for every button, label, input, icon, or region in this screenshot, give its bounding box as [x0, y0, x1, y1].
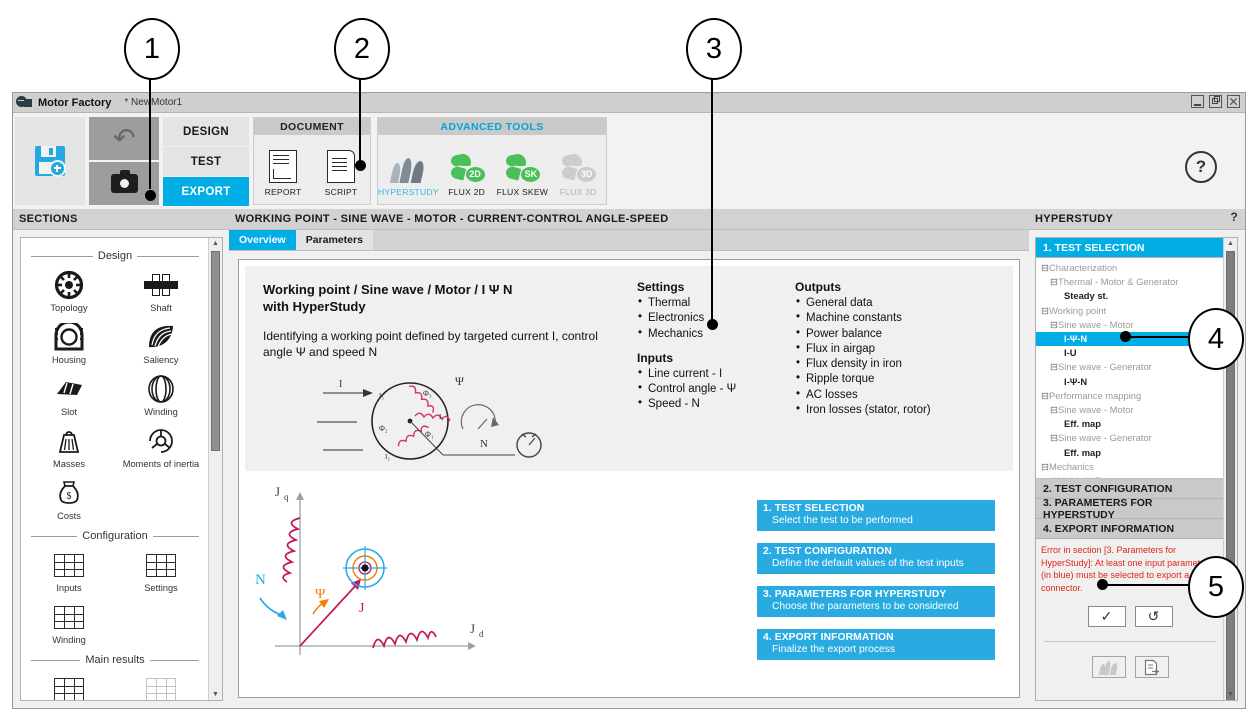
- callout-4-number: 4: [1208, 325, 1224, 354]
- step-3: 3. PARAMETERS FOR HYPERSTUDY Choose the …: [757, 586, 995, 617]
- ribbon-group-document: DOCUMENT REPORT SCRIPT: [253, 117, 371, 205]
- workspace: SECTIONS Design Topology Shaft Housing S…: [13, 209, 1245, 708]
- test-selection-tree: ⊟Characterization ⊟Thermal - Motor & Gen…: [1036, 258, 1224, 479]
- svg-text:J: J: [470, 621, 475, 636]
- inputs-list: Line current - I Control angle - Ψ Speed…: [637, 367, 777, 413]
- accordion-export-information[interactable]: 4. EXPORT INFORMATION: [1036, 519, 1224, 539]
- flux-skew-label: FLUX SKEW: [494, 187, 550, 197]
- slide-outputs-column: Outputs General data Machine constants P…: [795, 280, 985, 427]
- list-item: Line current - I: [637, 367, 777, 382]
- flux-3d-tag: 3D: [577, 167, 596, 182]
- winding-icon: [148, 374, 174, 404]
- validate-button[interactable]: ✓: [1088, 606, 1126, 627]
- section-item-saliency[interactable]: Saliency: [115, 316, 207, 368]
- tree-node[interactable]: ⊟Sine wave - Motor: [1036, 403, 1224, 417]
- svg-text:Ψ: Ψ: [455, 374, 464, 388]
- section-label-shaft: Shaft: [115, 303, 207, 313]
- footer-buttons: [1036, 656, 1224, 678]
- callout-1-anchor: [145, 190, 156, 201]
- callout-3-number: 3: [706, 35, 722, 64]
- sections-group-configuration-items: Inputs Settings Winding: [23, 544, 207, 648]
- callout-2-number: 2: [354, 35, 370, 64]
- outputs-list: General data Machine constants Power bal…: [795, 296, 985, 418]
- script-label: SCRIPT: [312, 187, 370, 197]
- callout-1-number: 1: [144, 35, 160, 64]
- callout-4-anchor: [1120, 331, 1131, 342]
- sections-group-configuration-title: Configuration: [82, 530, 147, 542]
- flux-2d-tag: 2D: [466, 167, 485, 182]
- tree-node[interactable]: ⊟Mechanics: [1036, 460, 1224, 474]
- slide-title: Working point / Sine wave / Motor / I Ψ …: [263, 282, 593, 316]
- housing-icon: [54, 323, 84, 351]
- report-label: REPORT: [254, 187, 312, 197]
- list-item: Mechanics: [637, 327, 777, 342]
- motor-schematic-diagram: I Φ₃ Φ₂ Φ₁ I₃: [315, 371, 585, 469]
- section-label-moments-of-inertia: Moments of inertia: [115, 459, 207, 469]
- step-4-desc: Finalize the export process: [763, 644, 989, 655]
- section-item-settings[interactable]: Settings: [115, 544, 207, 596]
- inputs-heading: Inputs: [637, 351, 777, 365]
- table-icon: [54, 554, 84, 577]
- tree-node[interactable]: Eff. map: [1036, 417, 1224, 431]
- tree-node[interactable]: ⊟Sine wave - Generator: [1036, 431, 1224, 445]
- report-button[interactable]: REPORT: [254, 145, 312, 197]
- callout-4-leader: [1127, 336, 1189, 338]
- callout-1-leader: [149, 76, 151, 189]
- callout-4: 4: [1188, 308, 1244, 370]
- callout-1: 1: [124, 18, 180, 80]
- application-window: Motor Factory * NewMotor1 ↷ DESIGN TEST …: [12, 92, 1246, 709]
- table-icon: [146, 678, 176, 701]
- undo-icon: ↷: [113, 125, 136, 152]
- section-item-winding-config[interactable]: Winding: [23, 596, 115, 648]
- step-4: 4. EXPORT INFORMATION Finalize the expor…: [757, 629, 995, 660]
- hyperstudy-icon: [391, 156, 425, 183]
- sections-scroll-area: Design Topology Shaft Housing Saliency S…: [21, 238, 209, 700]
- callout-3: 3: [686, 18, 742, 80]
- costs-icon: $: [55, 479, 83, 507]
- callout-2: 2: [334, 18, 390, 80]
- step-1: 1. TEST SELECTION Select the test to be …: [757, 500, 995, 531]
- ribbon-toolbar: ↷ DESIGN TEST EXPORT DOCUMENT REPORT SCR…: [13, 113, 1245, 210]
- list-item: Control angle - Ψ: [637, 382, 777, 397]
- list-item: AC losses: [795, 388, 985, 403]
- step-3-title: 3. PARAMETERS FOR HYPERSTUDY: [763, 589, 989, 600]
- step-3-desc: Choose the parameters to be considered: [763, 601, 989, 612]
- callout-5-anchor: [1097, 579, 1108, 590]
- flux-3d-label: FLUX 3D: [550, 187, 606, 197]
- section-item-shaft[interactable]: Shaft: [115, 264, 207, 316]
- tree-node[interactable]: ⊟Sine wave - Generator: [1036, 360, 1224, 374]
- callout-5-number: 5: [1208, 573, 1224, 602]
- sections-group-main-results-items: Working point Power electronics: [23, 668, 207, 701]
- tree-node[interactable]: I-Ψ-N: [1036, 375, 1224, 389]
- callout-5: 5: [1188, 556, 1244, 618]
- section-item-topology[interactable]: Topology: [23, 264, 115, 316]
- flux-skew-icon: SK: [504, 154, 540, 183]
- hyperstudy-sections: 1. TEST SELECTION ⊟Characterization ⊟The…: [1036, 238, 1224, 700]
- section-label-winding: Winding: [115, 407, 207, 417]
- sections-group-design-header: Design: [31, 250, 199, 262]
- hyperstudy-icon: [1099, 660, 1119, 675]
- table-icon: [146, 554, 176, 577]
- step-1-desc: Select the test to be performed: [763, 515, 989, 526]
- step-4-title: 4. EXPORT INFORMATION: [763, 632, 989, 643]
- flux-2d-button[interactable]: 2D FLUX 2D: [439, 145, 495, 197]
- step-2-desc: Define the default values of the test in…: [763, 558, 989, 569]
- settings-heading: Settings: [637, 280, 777, 294]
- callout-2-anchor: [355, 160, 366, 171]
- section-item-moments-of-inertia[interactable]: Moments of inertia: [115, 420, 207, 472]
- title-bar: Motor Factory * NewMotor1: [13, 93, 1245, 113]
- svg-text:Φ₂: Φ₂: [379, 424, 388, 433]
- hyperstudy-button[interactable]: HYPERSTUDY: [378, 145, 439, 197]
- flux-skew-tag: SK: [521, 167, 540, 182]
- svg-text:I₃: I₃: [379, 392, 384, 400]
- svg-text:Ψ: Ψ: [315, 587, 326, 602]
- section-label-saliency: Saliency: [115, 355, 207, 365]
- scroll-up-icon[interactable]: ▲: [1224, 238, 1237, 249]
- slide-settings-column: Settings Thermal Electronics Mechanics I…: [637, 280, 777, 422]
- sections-scrollbar[interactable]: ▲ ▼: [208, 238, 222, 700]
- section-label-housing: Housing: [23, 355, 115, 365]
- app-title: Motor Factory: [38, 97, 111, 109]
- list-item: General data: [795, 296, 985, 311]
- hyperstudy-label: HYPERSTUDY: [378, 187, 439, 197]
- tab-parameters[interactable]: Parameters: [296, 230, 373, 250]
- sections-group-main-results-title: Main results: [85, 654, 144, 666]
- outputs-heading: Outputs: [795, 280, 985, 294]
- list-item: Thermal: [637, 296, 777, 311]
- hyperstudy-help-icon[interactable]: ?: [1230, 210, 1238, 224]
- flux-skew-button[interactable]: SK FLUX SKEW: [494, 145, 550, 197]
- svg-text:J: J: [359, 601, 365, 616]
- flux-2d-icon: 2D: [449, 154, 485, 183]
- hyperstudy-body: 1. TEST SELECTION ⊟Characterization ⊟The…: [1035, 237, 1238, 701]
- list-item: Power balance: [795, 327, 985, 342]
- moments-of-inertia-icon: [147, 427, 175, 455]
- mode-export[interactable]: EXPORT: [163, 177, 249, 207]
- svg-text:I₂: I₂: [385, 453, 390, 461]
- scroll-down-icon[interactable]: ▼: [1224, 689, 1237, 700]
- tree-node[interactable]: Eff. map: [1036, 446, 1224, 460]
- flux-2d-label: FLUX 2D: [439, 187, 495, 197]
- camera-icon: [111, 174, 138, 193]
- svg-text:I: I: [339, 379, 342, 390]
- list-item: Iron losses (stator, rotor): [795, 403, 985, 418]
- sections-group-configuration-header: Configuration: [31, 530, 199, 542]
- hyperstudy-scrollbar[interactable]: ▲ ▼: [1223, 238, 1237, 700]
- saliency-icon: [146, 323, 176, 351]
- overview-content: Working point / Sine wave / Motor / I Ψ …: [238, 259, 1020, 698]
- save-button[interactable]: [15, 117, 85, 205]
- main-panel: WORKING POINT - SINE WAVE - MOTOR - CURR…: [229, 209, 1029, 708]
- section-label-costs: Costs: [23, 511, 115, 521]
- list-item: Flux density in iron: [795, 357, 985, 372]
- ribbon-group-document-title: DOCUMENT: [254, 118, 370, 135]
- slide-bottom-region: J q J d J Ψ: [245, 476, 1013, 691]
- minimize-icon[interactable]: [1191, 95, 1204, 108]
- section-item-slot[interactable]: Slot: [23, 368, 115, 420]
- section-label-winding-config: Winding: [23, 635, 115, 645]
- tab-overview[interactable]: Overview: [229, 230, 296, 250]
- table-icon: [54, 678, 84, 701]
- svg-text:I₁: I₁: [439, 413, 444, 421]
- slide-top-region: Working point / Sine wave / Motor / I Ψ …: [245, 266, 1013, 471]
- help-button[interactable]: ?: [1185, 151, 1217, 183]
- main-tabs: Overview Parameters: [229, 230, 1029, 251]
- tree-node[interactable]: ⊟Characterization: [1036, 261, 1224, 275]
- save-icon: [35, 146, 65, 176]
- ribbon-group-advanced-title: ADVANCED TOOLS: [378, 118, 606, 135]
- svg-text:Φ₃: Φ₃: [423, 389, 432, 398]
- tree-node[interactable]: Steady st.: [1036, 289, 1224, 303]
- mode-test[interactable]: TEST: [163, 147, 249, 177]
- callout-2-leader: [359, 76, 361, 163]
- callout-3-anchor: [707, 319, 718, 330]
- hyperstudy-title: HYPERSTUDY: [1035, 213, 1113, 225]
- hyperstudy-header: HYPERSTUDY ?: [1029, 209, 1245, 230]
- scroll-up-icon[interactable]: ▲: [209, 238, 222, 249]
- section-item-costs[interactable]: $Costs: [23, 472, 115, 524]
- section-item-winding[interactable]: Winding: [115, 368, 207, 420]
- sections-header: SECTIONS: [13, 209, 229, 230]
- flux-3d-button: 3D FLUX 3D: [550, 145, 606, 197]
- section-label-settings: Settings: [115, 583, 207, 593]
- tree-node[interactable]: ⊟Performance mapping: [1036, 389, 1224, 403]
- slide-subtitle: Identifying a working point defined by t…: [263, 328, 608, 360]
- step-2-title: 2. TEST CONFIGURATION: [763, 546, 989, 557]
- script-icon: [327, 150, 355, 183]
- hyperstudy-panel: HYPERSTUDY ? 1. TEST SELECTION ⊟Characte…: [1029, 209, 1245, 708]
- svg-text:Φ₁: Φ₁: [425, 430, 434, 439]
- svg-text:q: q: [284, 492, 289, 502]
- report-icon: [269, 150, 297, 183]
- scrollbar-thumb[interactable]: [211, 251, 220, 451]
- settings-list: Thermal Electronics Mechanics: [637, 296, 777, 342]
- list-item: Ripple torque: [795, 372, 985, 387]
- accordion-test-selection[interactable]: 1. TEST SELECTION: [1036, 238, 1224, 258]
- phasor-diagram: J q J d J Ψ: [255, 480, 515, 680]
- mode-design[interactable]: DESIGN: [163, 117, 249, 147]
- topology-icon: [54, 270, 84, 300]
- export-file-button[interactable]: [1135, 656, 1169, 678]
- section-label-slot: Slot: [23, 407, 115, 417]
- slot-icon: [53, 377, 85, 401]
- sections-group-design-title: Design: [98, 250, 132, 262]
- close-icon[interactable]: [1227, 95, 1240, 108]
- window-controls: [1191, 95, 1240, 108]
- reset-button[interactable]: ↺: [1135, 606, 1173, 627]
- svg-text:N: N: [255, 572, 266, 588]
- list-item: Flux in airgap: [795, 342, 985, 357]
- mode-selector: DESIGN TEST EXPORT: [163, 117, 249, 207]
- section-item-working-point[interactable]: Working point: [23, 668, 115, 701]
- section-item-housing[interactable]: Housing: [23, 316, 115, 368]
- table-icon: [54, 606, 84, 629]
- sections-group-main-results-header: Main results: [31, 654, 199, 666]
- section-label-topology: Topology: [23, 303, 115, 313]
- sections-list-container: Design Topology Shaft Housing Saliency S…: [20, 237, 223, 701]
- export-file-icon: [1144, 659, 1160, 676]
- tree-node[interactable]: ⊟Thermal - Motor & Generator: [1036, 275, 1224, 289]
- accordion-parameters-for-hyperstudy[interactable]: 3. PARAMETERS FOR HYPERSTUDY: [1036, 499, 1224, 519]
- callout-3-leader: [711, 76, 713, 323]
- sections-panel: SECTIONS Design Topology Shaft Housing S…: [13, 209, 229, 708]
- ribbon-group-advanced-tools: ADVANCED TOOLS HYPERSTUDY 2D FLUX 2D: [377, 117, 607, 205]
- step-1-title: 1. TEST SELECTION: [763, 503, 989, 514]
- section-label-masses: Masses: [23, 459, 115, 469]
- hyperstudy-export-button[interactable]: [1092, 656, 1126, 678]
- shaft-icon: [144, 272, 178, 298]
- section-item-masses[interactable]: Masses: [23, 420, 115, 472]
- app-logo-icon: [16, 95, 33, 110]
- svg-text:$: $: [67, 491, 72, 502]
- maximize-icon[interactable]: [1209, 95, 1222, 108]
- callout-5-leader: [1103, 584, 1189, 586]
- section-item-inputs[interactable]: Inputs: [23, 544, 115, 596]
- document-name: * NewMotor1: [124, 97, 182, 108]
- step-2: 2. TEST CONFIGURATION Define the default…: [757, 543, 995, 574]
- flux-3d-icon: 3D: [560, 154, 596, 183]
- list-item: Machine constants: [795, 311, 985, 326]
- section-item-power-electronics: Power electronics: [115, 668, 207, 701]
- sections-group-design-items: Topology Shaft Housing Saliency Slot Win…: [23, 264, 207, 524]
- main-header: WORKING POINT - SINE WAVE - MOTOR - CURR…: [229, 209, 1029, 230]
- list-item: Speed - N: [637, 397, 777, 412]
- masses-icon: [55, 427, 83, 455]
- section-label-inputs: Inputs: [23, 583, 115, 593]
- scroll-down-icon[interactable]: ▼: [209, 689, 222, 700]
- divider: [1044, 641, 1216, 642]
- steps-list: 1. TEST SELECTION Select the test to be …: [757, 500, 995, 672]
- svg-text:J: J: [275, 484, 280, 499]
- svg-text:d: d: [479, 629, 484, 639]
- svg-text:N: N: [480, 438, 488, 450]
